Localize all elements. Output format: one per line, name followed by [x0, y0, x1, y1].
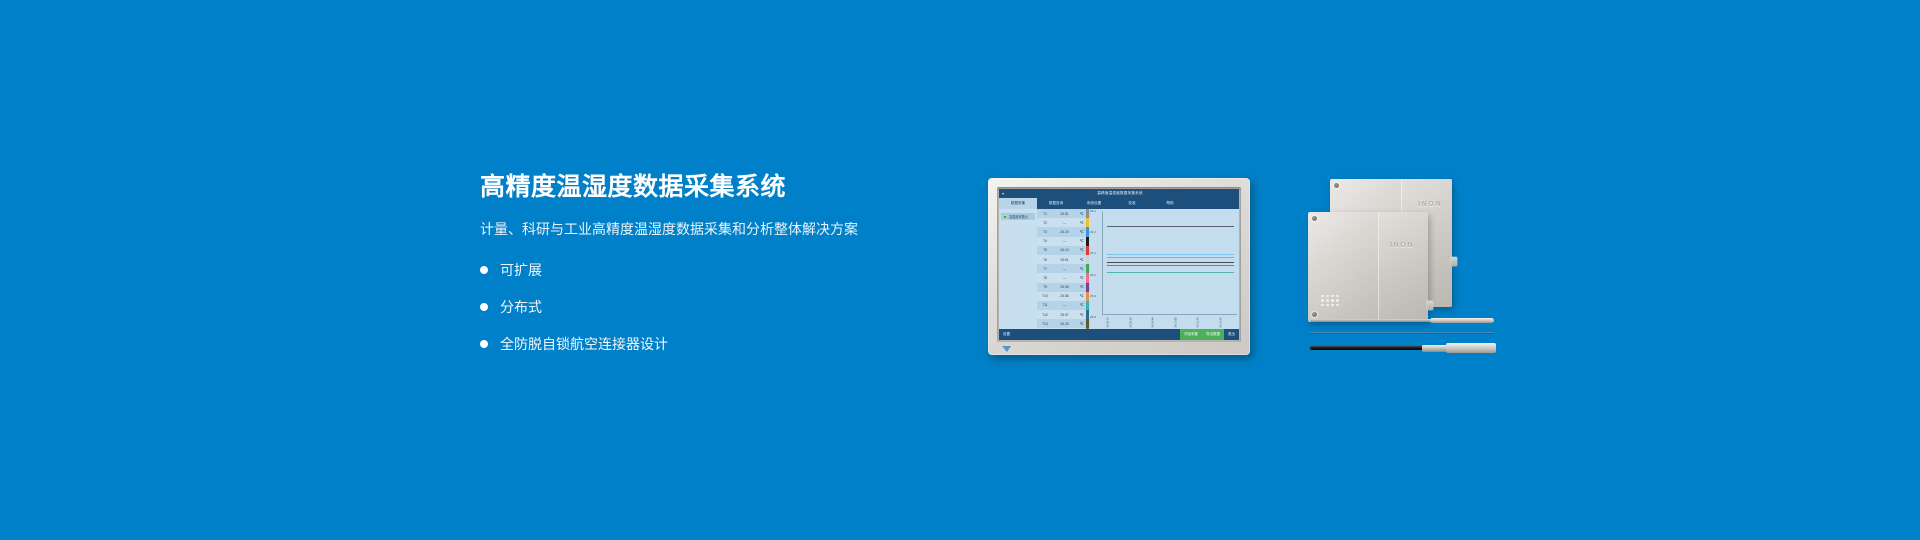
chart-series-line	[1107, 272, 1234, 273]
chart-plot-area	[1102, 211, 1237, 315]
chart-series-line	[1107, 262, 1234, 263]
chart-series-line	[1107, 226, 1234, 227]
channel-label: T4	[1038, 239, 1052, 243]
chart-y-tick: 25.9	[1090, 294, 1096, 298]
chart-y-tick: 26.1	[1090, 251, 1096, 255]
exit-button[interactable]: 退出	[1224, 329, 1239, 340]
product-hero-banner: 高精度温湿度数据采集系统 计量、科研与工业高精度温湿度数据采集和分析整体解决方案…	[0, 0, 1920, 540]
channel-value: 25.61	[1052, 258, 1077, 262]
channel-color-swatch	[1086, 273, 1089, 282]
channel-color-swatch	[1086, 264, 1089, 273]
chart-x-axis: 14:20:1214:20:3014:20:4814:21:0614:21:24…	[1102, 316, 1237, 329]
channel-unit: ℃	[1077, 248, 1086, 252]
channel-value: 25.97	[1052, 313, 1077, 317]
footer-spacer	[1014, 329, 1180, 340]
table-row[interactable]: T8---℃	[1037, 273, 1090, 282]
channel-color-swatch	[1086, 319, 1089, 328]
channel-label: T2	[1038, 221, 1052, 225]
settings-button[interactable]: 设置	[999, 329, 1014, 340]
brand-logo: INON	[1418, 201, 1442, 208]
bullet-dot-icon	[480, 303, 488, 311]
monitor-screen: ▾ 高精度温湿度数据采集系统 数据采集 数据查询 系统设置 校准 帮助 温湿度采…	[999, 189, 1239, 340]
channel-color-swatch	[1086, 246, 1089, 255]
tab-system-settings[interactable]: 系统设置	[1075, 198, 1113, 209]
chart-y-tick: 25.8	[1090, 315, 1096, 319]
chart-x-tick: 14:21:06	[1174, 317, 1187, 327]
app-tab-bar: 数据采集 数据查询 系统设置 校准 帮助	[999, 198, 1239, 209]
channel-unit: ℃	[1077, 322, 1086, 326]
channel-color-swatch	[1086, 292, 1089, 301]
channel-color-swatch	[1086, 209, 1089, 218]
tab-calibration[interactable]: 校准	[1113, 198, 1151, 209]
chart-y-tick: 26.2	[1090, 230, 1096, 234]
hero-subtitle: 计量、科研与工业高精度温湿度数据采集和分析整体解决方案	[480, 220, 900, 240]
list-item: 分布式	[480, 297, 900, 317]
channel-label: T8	[1038, 276, 1052, 280]
device-tree-sidebar: 温湿度采集仪	[999, 209, 1037, 329]
table-row[interactable]: T1025.88℃	[1037, 292, 1090, 301]
chart-x-tick: 14:20:30	[1129, 317, 1142, 327]
chart-series-line	[1107, 254, 1234, 255]
channel-color-swatch	[1086, 301, 1089, 310]
table-row[interactable]: T7---℃	[1037, 264, 1090, 273]
connector-ferrule	[1422, 345, 1448, 352]
channel-label: T3	[1038, 230, 1052, 234]
tab-data-acquisition[interactable]: 数据采集	[999, 198, 1037, 209]
sidebar-item-label: 温湿度采集仪	[1009, 214, 1028, 219]
probe-cable	[1310, 332, 1494, 334]
channel-value: ---	[1052, 267, 1077, 271]
probe-cable	[1310, 319, 1434, 322]
feature-label: 分布式	[500, 297, 542, 317]
chart-x-tick: 14:21:24	[1197, 317, 1210, 327]
app-titlebar: ▾ 高精度温湿度数据采集系统	[999, 189, 1239, 198]
channel-color-swatch	[1086, 218, 1089, 227]
channel-unit: ℃	[1077, 276, 1086, 280]
table-row[interactable]: T1225.97℃	[1037, 310, 1090, 319]
channel-value: ---	[1052, 276, 1077, 280]
channel-value: ---	[1052, 239, 1077, 243]
channel-value: ---	[1052, 221, 1077, 225]
table-row[interactable]: T625.61℃	[1037, 255, 1090, 264]
page-title: 高精度温湿度数据采集系统	[480, 172, 900, 202]
channel-unit: ℃	[1077, 258, 1086, 262]
start-acquisition-button[interactable]: 开始采集	[1180, 329, 1202, 340]
feature-label: 全防脱自锁航空连接器设计	[500, 334, 668, 354]
table-row[interactable]: T125.81℃	[1037, 209, 1090, 218]
table-row[interactable]: T4---℃	[1037, 237, 1090, 246]
channel-label: T5	[1038, 248, 1052, 252]
channel-label: T9	[1038, 285, 1052, 289]
chart-y-axis: 26.326.226.126.025.925.8	[1090, 209, 1101, 315]
connector-jack	[1427, 301, 1433, 310]
sidebar-item-device[interactable]: 温湿度采集仪	[1001, 213, 1035, 220]
channel-unit: ℃	[1077, 221, 1086, 225]
chart-series-line	[1107, 265, 1234, 266]
screw-icon	[1312, 216, 1317, 221]
chart-x-tick: 14:21:42	[1219, 317, 1232, 327]
connector-grid-icon	[1321, 295, 1339, 307]
app-body: 温湿度采集仪 T125.81℃T2---℃T326.19℃T4---℃T526.…	[999, 209, 1239, 329]
channel-color-swatch	[1086, 283, 1089, 292]
channel-label: T13	[1038, 322, 1052, 326]
chart-x-tick: 14:20:48	[1152, 317, 1165, 327]
brand-logo: INON	[1390, 242, 1414, 249]
channel-value: 26.19	[1052, 230, 1077, 234]
table-row[interactable]: T526.13℃	[1037, 246, 1090, 255]
chart-y-tick: 26.0	[1090, 273, 1096, 277]
channel-value: ---	[1052, 303, 1077, 307]
enclosure-side-face	[1378, 212, 1428, 322]
channel-label: T11	[1038, 303, 1052, 307]
channel-unit: ℃	[1077, 313, 1086, 317]
trend-chart: 26.326.226.126.025.925.8 14:20:1214:20:3…	[1090, 209, 1239, 329]
probe-cable	[1310, 346, 1426, 350]
table-row[interactable]: T11---℃	[1037, 301, 1090, 310]
tab-help[interactable]: 帮助	[1151, 198, 1189, 209]
table-row[interactable]: T925.98℃	[1037, 283, 1090, 292]
hero-copy-block: 高精度温湿度数据采集系统 计量、科研与工业高精度温湿度数据采集和分析整体解决方案…	[480, 172, 900, 371]
chart-x-tick: 14:20:12	[1107, 317, 1120, 327]
panel-pc-monitor: ▾ 高精度温湿度数据采集系统 数据采集 数据查询 系统设置 校准 帮助 温湿度采…	[988, 178, 1250, 355]
app-window-title: 高精度温湿度数据采集系统	[1004, 191, 1236, 196]
channel-label: T6	[1038, 258, 1052, 262]
screw-icon	[1334, 183, 1339, 188]
channel-color-swatch	[1086, 255, 1089, 264]
feature-label: 可扩展	[500, 260, 542, 280]
temperature-probe-stainless	[1310, 317, 1494, 323]
channel-label: T1	[1038, 212, 1052, 216]
table-row[interactable]: T326.19℃	[1037, 227, 1090, 236]
channel-label: T12	[1038, 313, 1052, 317]
channel-color-swatch	[1086, 227, 1089, 236]
table-row[interactable]: T2---℃	[1037, 218, 1090, 227]
export-data-button[interactable]: 导出数据	[1202, 329, 1224, 340]
channel-readings-table: T125.81℃T2---℃T326.19℃T4---℃T526.13℃T625…	[1037, 209, 1090, 329]
connector-barrel	[1446, 343, 1496, 353]
connector-jack	[1451, 257, 1457, 266]
data-logger-enclosure-front: INON	[1308, 212, 1428, 322]
channel-unit: ℃	[1077, 212, 1086, 216]
chart-series-line	[1107, 257, 1234, 258]
chart-y-tick: 26.3	[1090, 209, 1096, 213]
bullet-dot-icon	[480, 266, 488, 274]
channel-unit: ℃	[1077, 285, 1086, 289]
status-ok-icon	[1003, 215, 1007, 219]
app-footer-toolbar: 设置 开始采集 导出数据 退出	[999, 329, 1239, 340]
channel-value: 26.13	[1052, 248, 1077, 252]
channel-unit: ℃	[1077, 230, 1086, 234]
channel-color-swatch	[1086, 310, 1089, 319]
channel-unit: ℃	[1077, 239, 1086, 243]
monitor-bezel: ▾ 高精度温湿度数据采集系统 数据采集 数据查询 系统设置 校准 帮助 温湿度采…	[997, 187, 1241, 342]
channel-value: 25.98	[1052, 285, 1077, 289]
sensor-cable-blue	[1310, 331, 1494, 335]
channel-color-swatch	[1086, 237, 1089, 246]
channel-unit: ℃	[1077, 267, 1086, 271]
channel-value: 26.28	[1052, 322, 1077, 326]
probe-tip	[1430, 318, 1494, 323]
channel-unit: ℃	[1077, 303, 1086, 307]
channel-value: 25.81	[1052, 212, 1077, 216]
channel-unit: ℃	[1077, 294, 1086, 298]
channel-value: 25.88	[1052, 294, 1077, 298]
list-item: 可扩展	[480, 260, 900, 280]
table-row[interactable]: T1326.28℃	[1037, 319, 1090, 328]
aviation-connector-probe	[1310, 342, 1494, 355]
feature-list: 可扩展 分布式 全防脱自锁航空连接器设计	[480, 260, 900, 354]
list-item: 全防脱自锁航空连接器设计	[480, 334, 900, 354]
bullet-dot-icon	[480, 340, 488, 348]
channel-label: T10	[1038, 294, 1052, 298]
channel-label: T7	[1038, 267, 1052, 271]
monitor-stand-foot	[1002, 346, 1011, 352]
tab-data-query[interactable]: 数据查询	[1037, 198, 1075, 209]
